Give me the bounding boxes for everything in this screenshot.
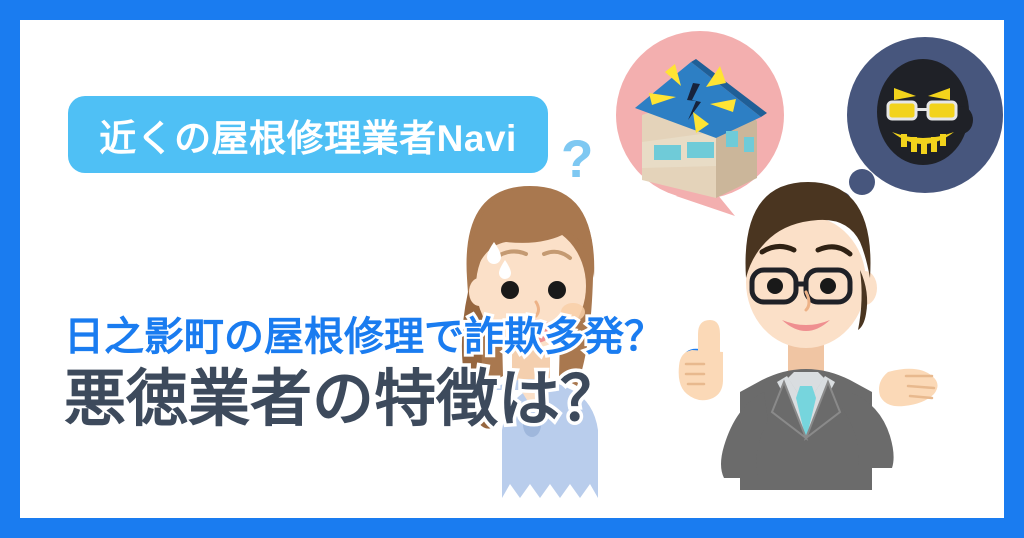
evil-contractor-thought-bubble xyxy=(833,37,1003,210)
badge-question-mark: ? xyxy=(561,133,593,186)
explaining-businessman xyxy=(679,182,938,490)
pointing-up-hand xyxy=(679,320,723,400)
site-name-badge[interactable]: 近くの屋根修理業者Navi xyxy=(68,96,548,173)
site-name-badge-label: 近くの屋根修理業者Navi xyxy=(99,108,517,162)
banner-canvas: ? xyxy=(0,0,1024,538)
headline-block: 日之影町の屋根修理で詐欺多発？ 悪徳業者の特徴は？ xyxy=(64,316,664,436)
banner-inner-area: ? xyxy=(20,20,1004,518)
damaged-house-speech-bubble xyxy=(616,31,784,216)
headline-line-2: 悪徳業者の特徴は？ xyxy=(64,363,664,436)
open-palm-hand xyxy=(879,369,938,406)
headline-line-1: 日之影町の屋根修理で詐欺多発？ xyxy=(64,316,664,359)
illustration-layer: ? xyxy=(20,20,1004,518)
